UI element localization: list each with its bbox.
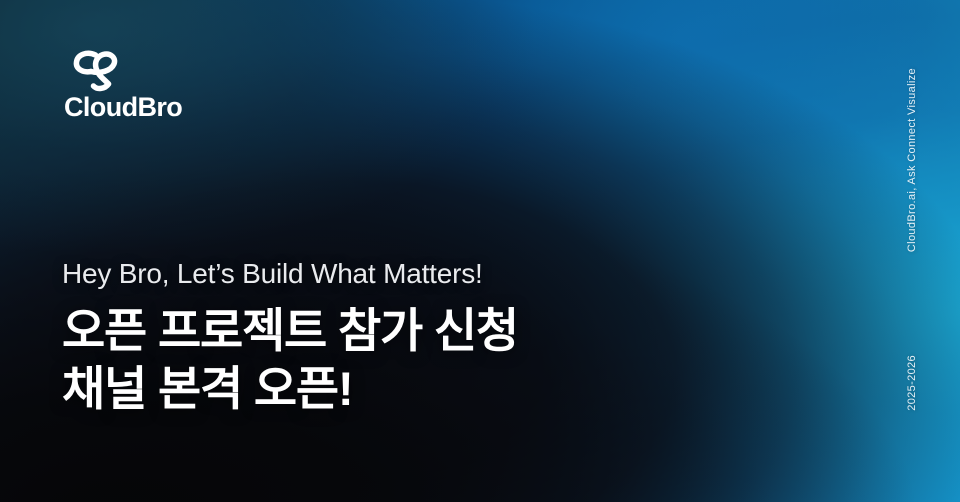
hero-headline-line-2: 채널 본격 오픈! bbox=[62, 360, 518, 418]
side-tagline: CloudBro.ai, Ask Connect Visualize bbox=[906, 68, 918, 252]
hero-copy-block: Hey Bro, Let’s Build What Matters! 오픈 프로… bbox=[62, 258, 518, 418]
logo-wordmark: CloudBro bbox=[64, 94, 254, 121]
promo-banner: CloudBro Hey Bro, Let’s Build What Matte… bbox=[0, 0, 960, 502]
logo-lockup[interactable]: CloudBro bbox=[64, 48, 254, 121]
hero-headline-line-1: 오픈 프로젝트 참가 신청 bbox=[62, 302, 518, 360]
cloudbro-infinity-cloud-icon bbox=[72, 48, 126, 92]
side-years: 2025-2026 bbox=[906, 355, 918, 411]
hero-eyebrow: Hey Bro, Let’s Build What Matters! bbox=[62, 258, 518, 290]
